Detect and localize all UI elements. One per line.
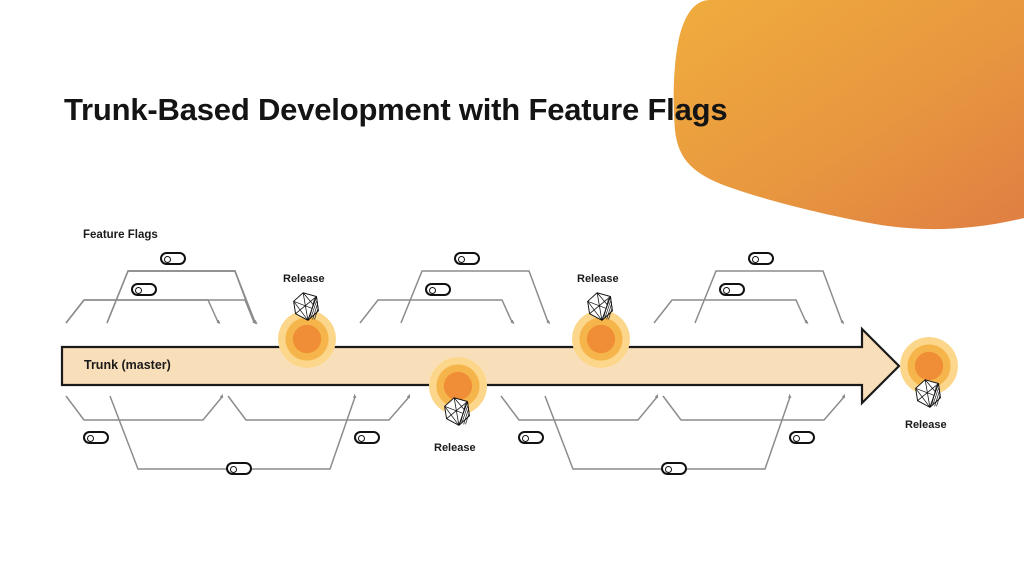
release-label-2: Release: [577, 273, 619, 285]
feature-flag-toggle-5[interactable]: [748, 252, 774, 265]
release-label-1: Release: [283, 273, 325, 285]
upper-branch-group-2: [360, 271, 548, 323]
polyhedron-icon-4: [909, 375, 947, 413]
feature-flag-toggle-6[interactable]: [719, 283, 745, 296]
feature-flag-toggle-7[interactable]: [83, 431, 109, 444]
feature-flag-toggle-2[interactable]: [131, 283, 157, 296]
upper-branch-group-3: [654, 271, 842, 323]
trunk-label: Trunk (master): [84, 358, 171, 372]
feature-flag-toggle-11[interactable]: [661, 462, 687, 475]
release-label-4: Release: [905, 419, 947, 431]
polyhedron-icon-1: [287, 288, 325, 326]
feature-flag-toggle-12[interactable]: [789, 431, 815, 444]
polyhedron-icon-2: [581, 288, 619, 326]
upper-branch-group-1b: [66, 271, 254, 323]
slide-canvas: Trunk-Based Development with Feature Fla…: [0, 0, 1024, 571]
feature-flag-toggle-4[interactable]: [425, 283, 451, 296]
feature-flags-label: Feature Flags: [83, 229, 158, 241]
release-label-3: Release: [434, 442, 476, 454]
feature-flag-toggle-8[interactable]: [226, 462, 252, 475]
polyhedron-icon-3: [438, 393, 476, 431]
feature-flag-toggle-1[interactable]: [160, 252, 186, 265]
feature-flag-toggle-3[interactable]: [454, 252, 480, 265]
feature-flag-toggle-9[interactable]: [354, 431, 380, 444]
upper-branch-group-1: [66, 271, 255, 323]
feature-flag-toggle-10[interactable]: [518, 431, 544, 444]
